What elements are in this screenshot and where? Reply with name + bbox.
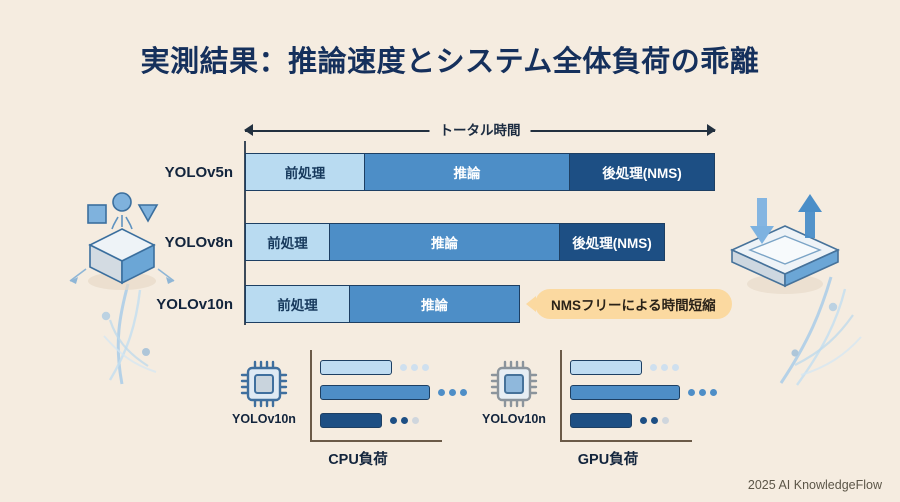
gpu-load-dot [640,417,647,424]
gpu-load-dot [662,417,669,424]
cpu-load-bar[interactable] [320,360,392,375]
slide-canvas: 実測結果：推論速度とシステム全体負荷の乖離 トータル時間 YOLOv5n 前処理… [0,0,900,502]
cpu-load-dot [411,364,418,371]
isometric-tray-arrows-icon [722,192,848,304]
gpu-load-dot [650,364,657,371]
segment-inference[interactable]: 推論 [350,285,520,323]
cpu-axis-vertical [310,350,312,442]
cpu-axis-horizontal [310,440,442,442]
segment-postprocess[interactable]: 後処理(NMS) [560,223,665,261]
gpu-load-dot [710,389,717,396]
footer-credit: 2025 AI KnowledgeFlow [748,478,882,492]
segment-preprocess[interactable]: 前処理 [245,153,365,191]
segment-preprocess[interactable]: 前処理 [245,223,330,261]
gpu-axis-vertical [560,350,562,442]
gantt-row: YOLOv10n 前処理 推論 [245,285,520,323]
row-label-yolov8n: YOLOv8n [165,223,233,261]
cpu-load-dot [390,417,397,424]
cpu-load-bar[interactable] [320,385,430,400]
gpu-load-bar[interactable] [570,413,632,428]
gpu-load-dot [699,389,706,396]
cpu-chip-icon [238,358,290,410]
gpu-axis-horizontal [560,440,692,442]
row-label-yolov5n: YOLOv5n [165,153,233,191]
gpu-load-dot [661,364,668,371]
cpu-load-dot [422,364,429,371]
cpu-load-dot [401,417,408,424]
right-swirl-decoration [735,275,875,395]
gpu-load-title: GPU負荷 [518,448,698,469]
cpu-load-dot [438,389,445,396]
gantt-row: YOLOv5n 前処理 推論 後処理(NMS) [245,153,715,191]
segment-inference[interactable]: 推論 [330,223,560,261]
segment-inference[interactable]: 推論 [365,153,570,191]
cpu-load-title: CPU負荷 [268,448,448,469]
cpu-load-dot [400,364,407,371]
gpu-load-bar[interactable] [570,385,680,400]
nms-free-callout[interactable]: NMSフリーによる時間短縮 [535,289,732,319]
gpu-load-dot [688,389,695,396]
cpu-load-frame [310,350,442,442]
axis-label: トータル時間 [430,119,531,139]
segment-postprocess[interactable]: 後処理(NMS) [570,153,715,191]
row-label-yolov10n: YOLOv10n [156,285,233,323]
gpu-chip-label: YOLOv10n [482,412,546,426]
gpu-load-dot [672,364,679,371]
cpu-load-dot [449,389,456,396]
total-time-axis: トータル時間 [245,119,715,141]
callout-text: NMSフリーによる時間短縮 [551,294,716,314]
segment-preprocess[interactable]: 前処理 [245,285,350,323]
gantt-row: YOLOv8n 前処理 推論 後処理(NMS) [245,223,665,261]
gpu-load-frame [560,350,692,442]
arrow-right-icon [707,124,716,136]
arrow-left-icon [244,124,253,136]
cpu-load-dot [412,417,419,424]
page-title: 実測結果：推論速度とシステム全体負荷の乖離 [0,38,900,80]
cpu-load-dot [460,389,467,396]
cpu-load-bar[interactable] [320,413,382,428]
gpu-chip-icon [488,358,540,410]
gpu-load-dot [651,417,658,424]
gpu-load-bar[interactable] [570,360,642,375]
callout-pointer-icon [526,296,536,312]
cpu-chip-label: YOLOv10n [232,412,296,426]
